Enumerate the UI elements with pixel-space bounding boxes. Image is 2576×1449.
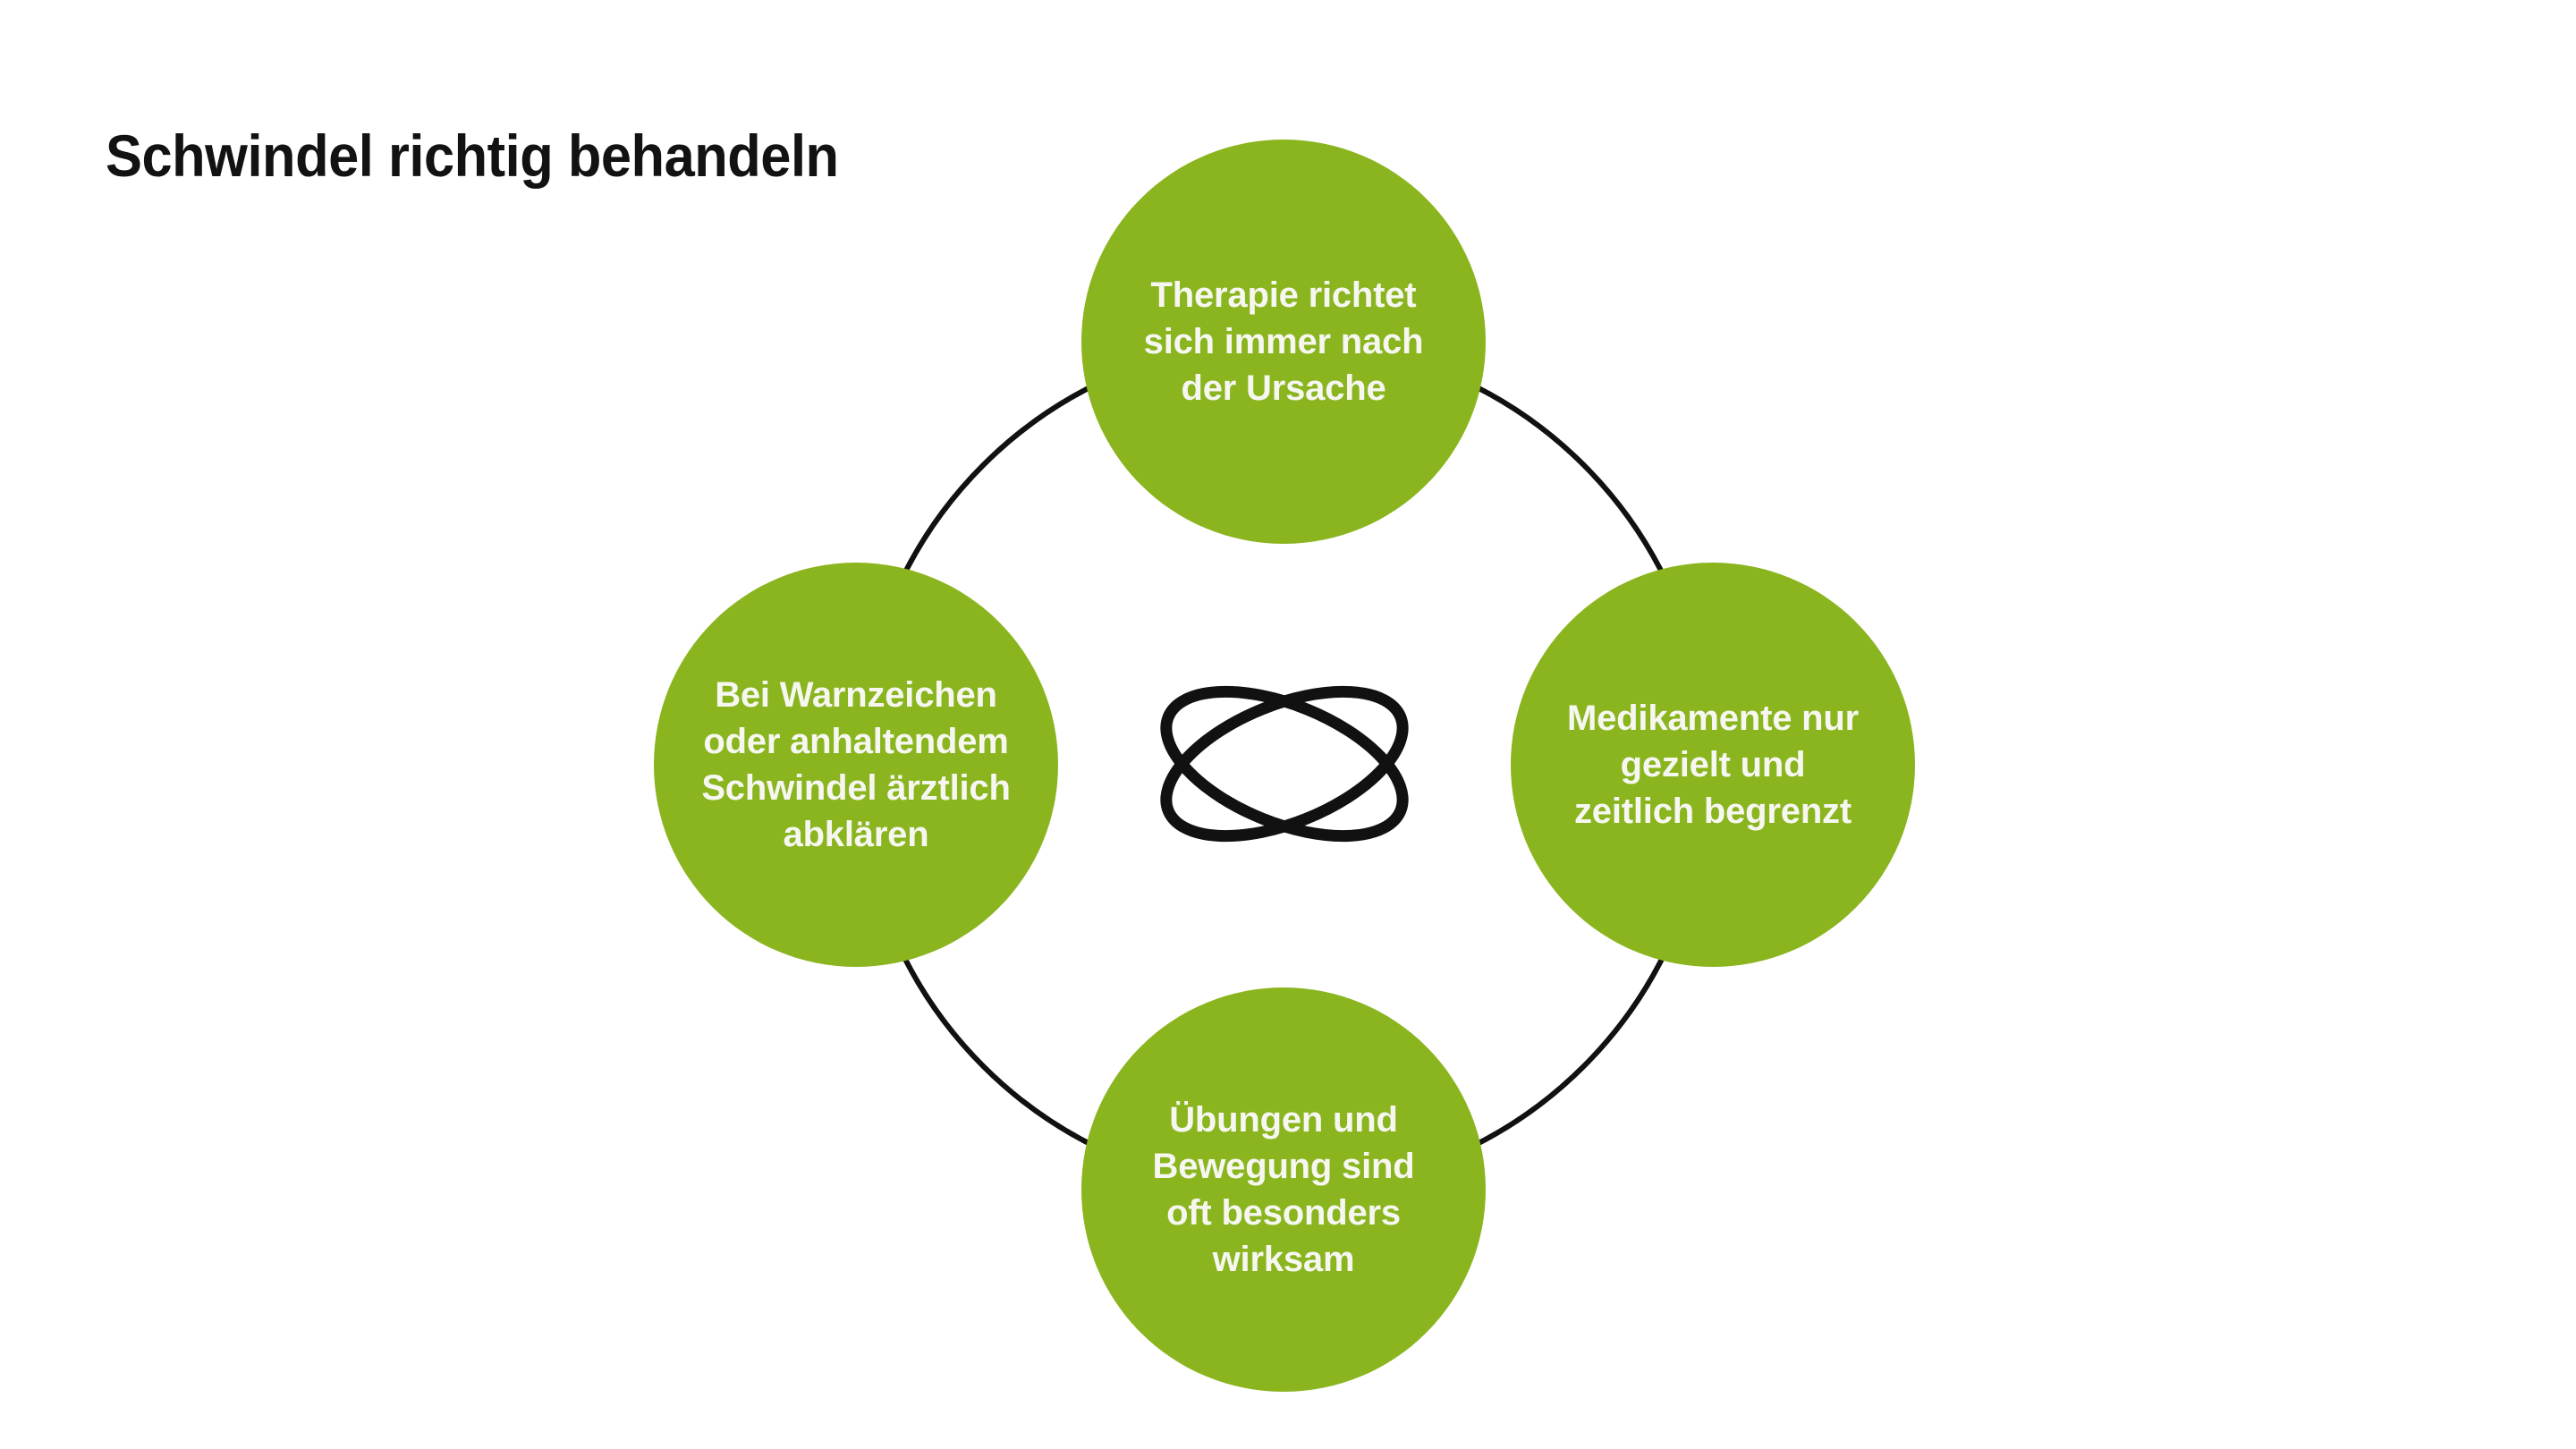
atom-orbit-icon bbox=[1155, 662, 1414, 866]
cycle-node-left[interactable]: Bei Warnzeichen oder anhaltendem Schwind… bbox=[654, 563, 1058, 967]
cycle-node-right-label: Medikamente nur gezielt und zeitlich beg… bbox=[1567, 695, 1859, 835]
cycle-diagram: Therapie richtet sich immer nach der Urs… bbox=[0, 0, 2576, 1449]
cycle-node-right[interactable]: Medikamente nur gezielt und zeitlich beg… bbox=[1511, 563, 1915, 967]
cycle-node-bottom[interactable]: Übungen und Bewegung sind oft besonders … bbox=[1081, 987, 1486, 1392]
cycle-node-left-label: Bei Warnzeichen oder anhaltendem Schwind… bbox=[701, 672, 1010, 858]
cycle-node-top[interactable]: Therapie richtet sich immer nach der Urs… bbox=[1081, 140, 1486, 544]
cycle-node-top-label: Therapie richtet sich immer nach der Urs… bbox=[1144, 272, 1424, 411]
cycle-node-bottom-label: Übungen und Bewegung sind oft besonders … bbox=[1153, 1097, 1415, 1283]
slide-canvas: Schwindel richtig behandeln Therapie ric… bbox=[0, 0, 2576, 1449]
